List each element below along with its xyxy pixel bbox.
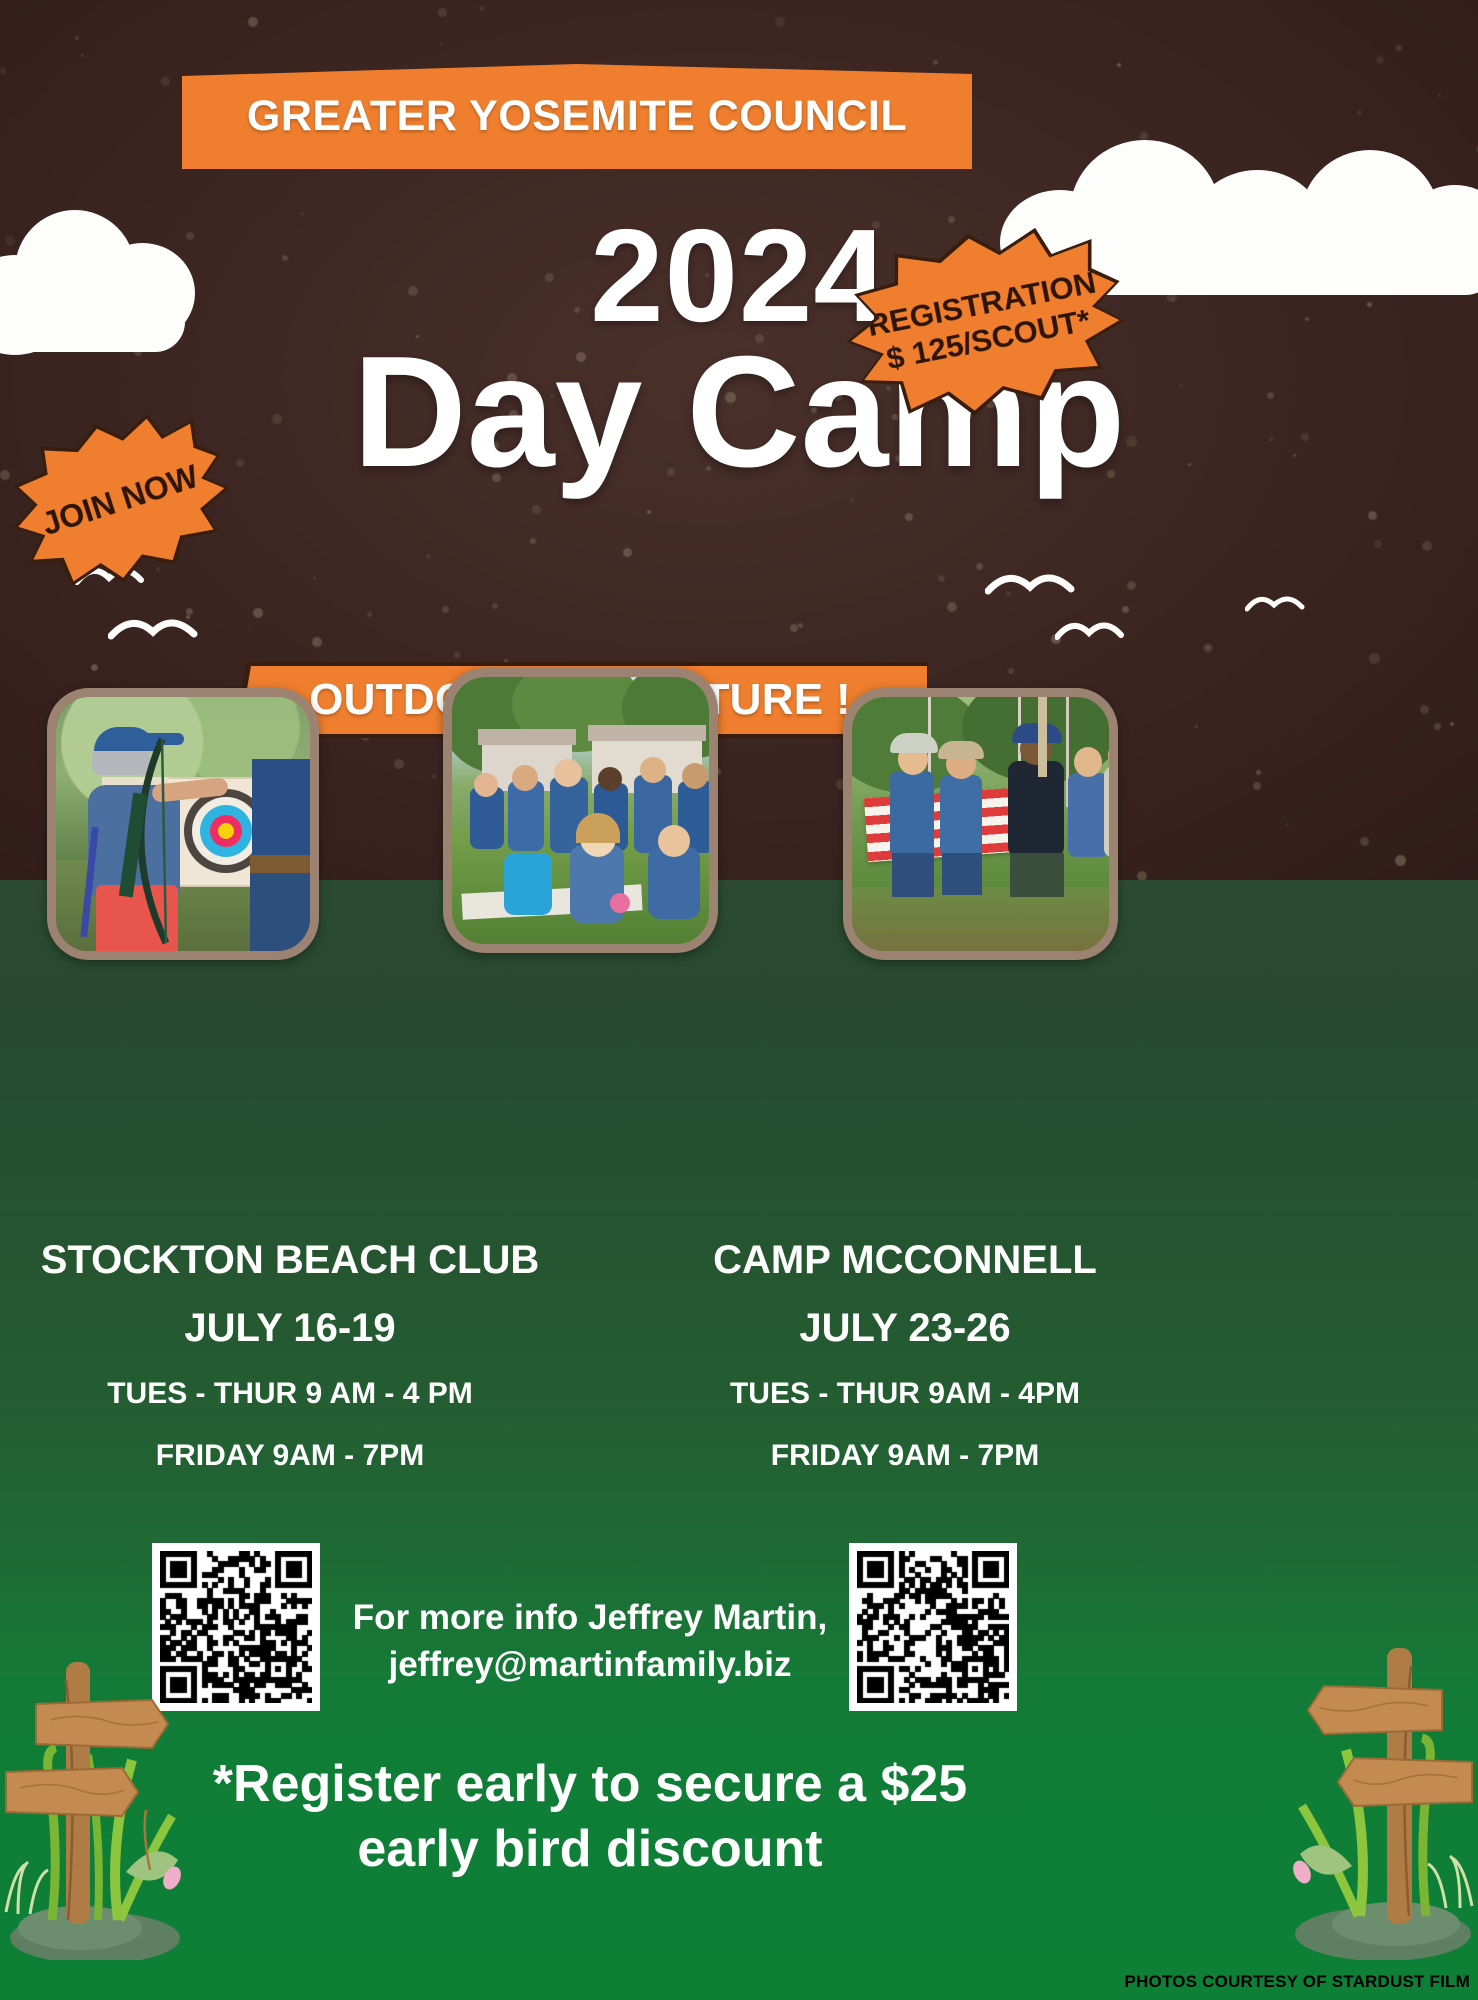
archery-photo — [47, 688, 319, 960]
flag-photo — [843, 688, 1118, 960]
camp-hours-friday: FRIDAY 9AM - 7PM — [0, 1439, 580, 1473]
camp-name: STOCKTON BEACH CLUB — [0, 1236, 580, 1284]
council-banner: GREATER YOSEMITE COUNCIL — [182, 64, 972, 169]
camp-hours-weekday: TUES - THUR 9AM - 4PM — [605, 1377, 1205, 1411]
camp-dates: JULY 23-26 — [605, 1306, 1205, 1351]
early-bird-note: *Register early to secure a $25 early bi… — [120, 1752, 1060, 1882]
bird-icon-5 — [1245, 590, 1305, 616]
camp-name: CAMP MCCONNELL — [605, 1236, 1205, 1284]
signpost-icon-right — [1268, 1600, 1478, 1965]
bird-icon-2 — [108, 610, 198, 644]
early-bird-line-1: *Register early to secure a $25 — [120, 1752, 1060, 1817]
contact-line-1: For more info Jeffrey Martin, — [320, 1595, 860, 1642]
early-bird-line-2: early bird discount — [120, 1817, 1060, 1882]
camp-info-stockton: STOCKTON BEACH CLUB JULY 16-19 TUES - TH… — [0, 1236, 580, 1473]
camp-dates: JULY 16-19 — [0, 1306, 580, 1351]
group-photo — [443, 668, 718, 953]
join-now-badge-label: JOIN NOW — [37, 457, 202, 542]
year-heading: 2024 — [0, 210, 1478, 342]
bird-icon-4 — [1055, 615, 1125, 645]
qr-code-right[interactable] — [849, 1543, 1017, 1711]
camp-hours-friday: FRIDAY 9AM - 7PM — [605, 1439, 1205, 1473]
council-banner-label: GREATER YOSEMITE COUNCIL — [247, 92, 907, 141]
camp-hours-weekday: TUES - THUR 9 AM - 4 PM — [0, 1377, 580, 1411]
bird-icon-3 — [985, 565, 1075, 599]
camp-info-mcconnell: CAMP MCCONNELL JULY 23-26 TUES - THUR 9A… — [605, 1236, 1205, 1473]
day-camp-poster: GREATER YOSEMITE COUNCIL 2024 Day Camp R… — [0, 0, 1478, 2000]
contact-info: For more info Jeffrey Martin, jeffrey@ma… — [320, 1595, 860, 1688]
contact-line-2: jeffrey@martinfamily.biz — [320, 1642, 860, 1689]
photo-credit: PHOTOS COURTESY OF STARDUST FILM — [1125, 1972, 1470, 1992]
